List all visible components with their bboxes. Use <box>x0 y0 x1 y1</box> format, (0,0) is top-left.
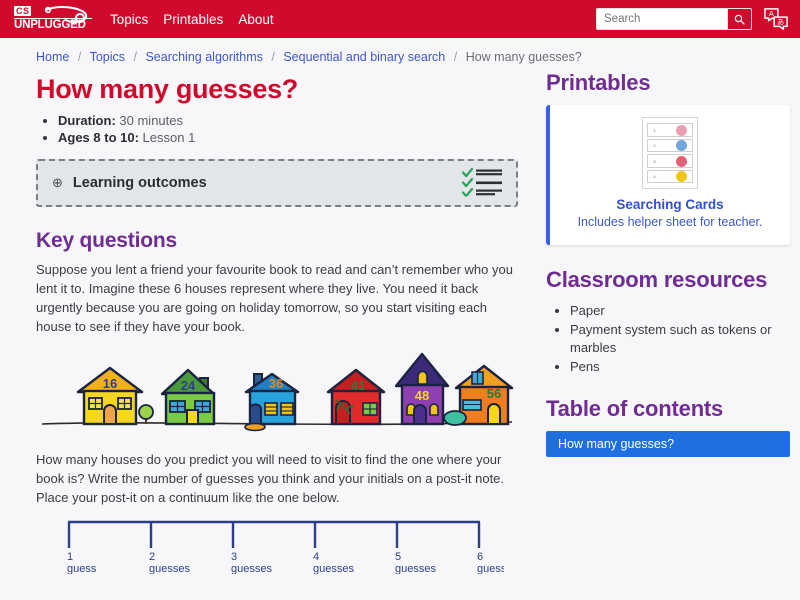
site-header: CS UNPLUGGED Topics Printables About A <box>0 0 800 38</box>
language-translate-icon: A あ <box>763 7 789 31</box>
printable-card-subtitle: Includes helper sheet for teacher. <box>564 214 776 230</box>
breadcrumb: Home / Topics / Searching algorithms / S… <box>0 38 800 70</box>
search-box <box>596 8 752 30</box>
printables-heading: Printables <box>546 70 790 95</box>
key-questions-paragraph-2: How many houses do you predict you will … <box>36 451 518 508</box>
resource-item: Payment system such as tokens or marbles <box>570 321 790 357</box>
thumbnail-row-number: 4 <box>650 174 659 179</box>
resource-item: Paper <box>570 302 790 320</box>
svg-text:36: 36 <box>269 376 283 391</box>
breadcrumb-current: How many guesses? <box>466 50 582 64</box>
thumbnail-row-number: 3 <box>650 159 659 164</box>
classroom-resources-heading: Classroom resources <box>546 267 790 292</box>
search-button[interactable] <box>727 9 751 29</box>
house-56: 56 <box>444 366 512 425</box>
meta-duration: Duration: 30 minutes <box>58 113 518 128</box>
svg-text:16: 16 <box>103 376 117 391</box>
nav-item-about[interactable]: About <box>238 12 273 27</box>
breadcrumb-item-sequential-and-binary-search[interactable]: Sequential and binary search <box>283 50 445 64</box>
breadcrumb-separator: / <box>271 50 274 64</box>
main-content: How many guesses? Duration: 30 minutes A… <box>36 70 518 577</box>
meta-ages-label: Ages 8 to 10: <box>58 130 139 145</box>
toc-item-how-many-guesses[interactable]: How many guesses? <box>546 431 790 457</box>
table-of-contents-heading: Table of contents <box>546 396 790 421</box>
resource-item: Pens <box>570 358 790 376</box>
thumbnail-row: 2 <box>647 139 693 153</box>
key-questions-heading: Key questions <box>36 229 518 253</box>
logo-cs-text: CS <box>14 6 31 16</box>
thumbnail-row: 1 <box>647 123 693 137</box>
lesson-meta-list: Duration: 30 minutes Ages 8 to 10: Lesso… <box>36 113 518 145</box>
checklist-icon <box>462 167 504 200</box>
thumbnail-card-blob <box>676 140 687 151</box>
nav-item-topics[interactable]: Topics <box>110 12 148 27</box>
thumbnail-card-blob <box>676 125 687 136</box>
learning-outcomes-label: Learning outcomes <box>73 175 207 191</box>
meta-duration-value: 30 minutes <box>119 113 183 128</box>
classroom-resources-list: Paper Payment system such as tokens or m… <box>546 302 790 376</box>
key-questions-paragraph-1: Suppose you lent a friend your favourite… <box>36 261 518 336</box>
house-16: 16 <box>78 368 153 424</box>
breadcrumb-item-home[interactable]: Home <box>36 50 69 64</box>
thumbnail-card-blob <box>676 171 687 182</box>
svg-text:あ: あ <box>777 18 784 27</box>
printable-card-title[interactable]: Searching Cards <box>564 197 776 212</box>
search-input[interactable] <box>597 9 727 29</box>
tick-label-5-num: 5 <box>395 551 401 563</box>
house-36: 36 <box>245 374 298 431</box>
tick-label-1-num: 1 <box>67 551 73 563</box>
tick-label-6-word: guesses <box>477 563 504 574</box>
tick-label-6-num: 6 <box>477 551 483 563</box>
thumbnail-card-blob <box>676 156 687 167</box>
svg-text:41: 41 <box>351 378 365 393</box>
nav-item-printables[interactable]: Printables <box>163 12 223 27</box>
sidebar: Printables 1 2 3 4 Searching Cards Inclu… <box>538 70 790 577</box>
thumbnail-row-number: 2 <box>650 143 659 148</box>
house-48: 48 <box>396 354 448 424</box>
breadcrumb-separator: / <box>133 50 136 64</box>
breadcrumb-item-searching-algorithms[interactable]: Searching algorithms <box>145 50 262 64</box>
meta-duration-label: Duration: <box>58 113 116 128</box>
tick-label-5-word: guesses <box>395 563 436 574</box>
search-icon <box>734 13 745 26</box>
house-24: 24 <box>162 370 214 424</box>
breadcrumb-separator: / <box>454 50 457 64</box>
thumbnail-row-number: 1 <box>650 128 659 133</box>
svg-text:48: 48 <box>415 388 429 403</box>
meta-ages-value: Lesson 1 <box>143 130 196 145</box>
svg-text:A: A <box>769 9 774 18</box>
tick-label-1-word: guess <box>67 563 97 574</box>
plug-cable-icon <box>44 6 92 26</box>
house-41: 41 <box>328 370 384 424</box>
thumbnail-row: 3 <box>647 154 693 168</box>
meta-ages: Ages 8 to 10: Lesson 1 <box>58 130 518 145</box>
tick-label-2-word: guesses <box>149 563 190 574</box>
guesses-continuum: 1 guess 2 guesses 3 guesses 4 guesses 5 … <box>64 518 518 577</box>
page-title: How many guesses? <box>36 74 518 105</box>
breadcrumb-item-topics[interactable]: Topics <box>90 50 125 64</box>
svg-text:24: 24 <box>181 378 196 393</box>
breadcrumb-separator: / <box>78 50 81 64</box>
svg-text:56: 56 <box>487 386 501 401</box>
language-selector-button[interactable]: A あ <box>762 6 790 32</box>
plus-circle-icon: ⊕ <box>52 175 63 191</box>
printable-card-searching-cards[interactable]: 1 2 3 4 Searching Cards Includes helper … <box>546 105 790 244</box>
tick-label-3-word: guesses <box>231 563 272 574</box>
main-navigation: Topics Printables About <box>110 12 274 27</box>
tick-label-4-num: 4 <box>313 551 319 563</box>
page-body: How many guesses? Duration: 30 minutes A… <box>0 70 800 577</box>
tick-label-4-word: guesses <box>313 563 354 574</box>
thumbnail-row: 4 <box>647 170 693 184</box>
learning-outcomes-panel[interactable]: ⊕ Learning outcomes <box>36 159 518 207</box>
tick-label-3-num: 3 <box>231 551 237 563</box>
tick-label-2-num: 2 <box>149 551 155 563</box>
header-actions: A あ <box>596 0 790 38</box>
site-logo[interactable]: CS UNPLUGGED <box>14 6 92 32</box>
six-houses-illustration: 16 24 <box>36 348 518 437</box>
searching-cards-thumbnail: 1 2 3 4 <box>642 117 698 189</box>
